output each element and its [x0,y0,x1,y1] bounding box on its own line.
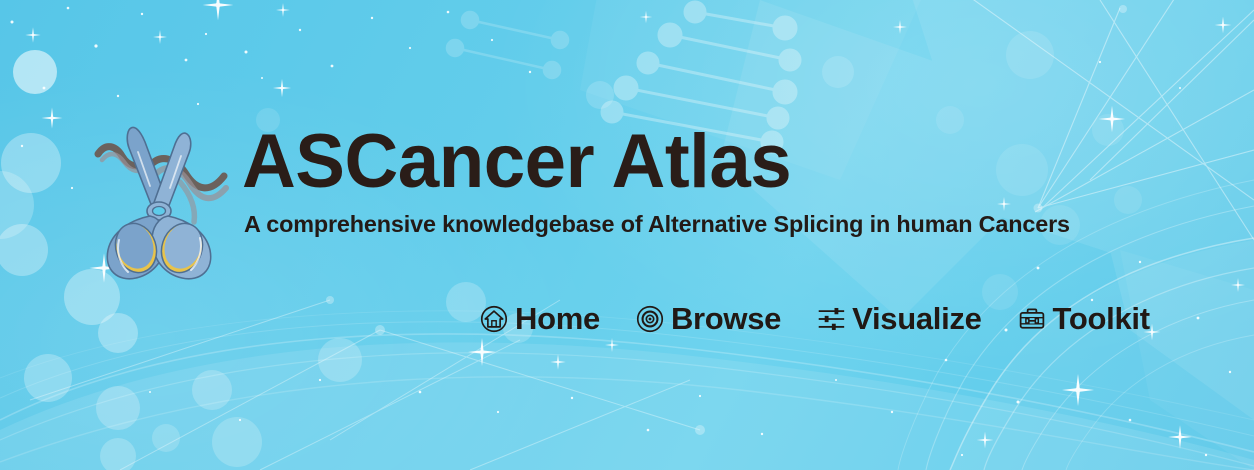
nav-label-home: Home [515,302,600,336]
toolbox-icon [1018,305,1046,333]
sliders-icon [817,305,845,333]
home-icon [480,305,508,333]
nav-item-visualize[interactable]: Visualize [815,300,983,338]
nav-item-toolkit[interactable]: Toolkit [1016,300,1152,338]
main-navigation: Home Browse [478,300,1152,338]
nav-label-visualize: Visualize [852,302,981,336]
page-subtitle: A comprehensive knowledgebase of Alterna… [244,210,1167,238]
site-banner: ASCancer Atlas A comprehensive knowledge… [0,0,1254,470]
title-block: ASCancer Atlas A comprehensive knowledge… [242,120,1172,238]
scissors-dna-logo [84,112,234,292]
nav-label-browse: Browse [671,302,781,336]
page-title: ASCancer Atlas [242,120,1153,204]
nav-label-toolkit: Toolkit [1053,302,1150,336]
target-eye-icon [636,305,664,333]
nav-item-browse[interactable]: Browse [634,300,783,338]
nav-item-home[interactable]: Home [478,300,602,338]
